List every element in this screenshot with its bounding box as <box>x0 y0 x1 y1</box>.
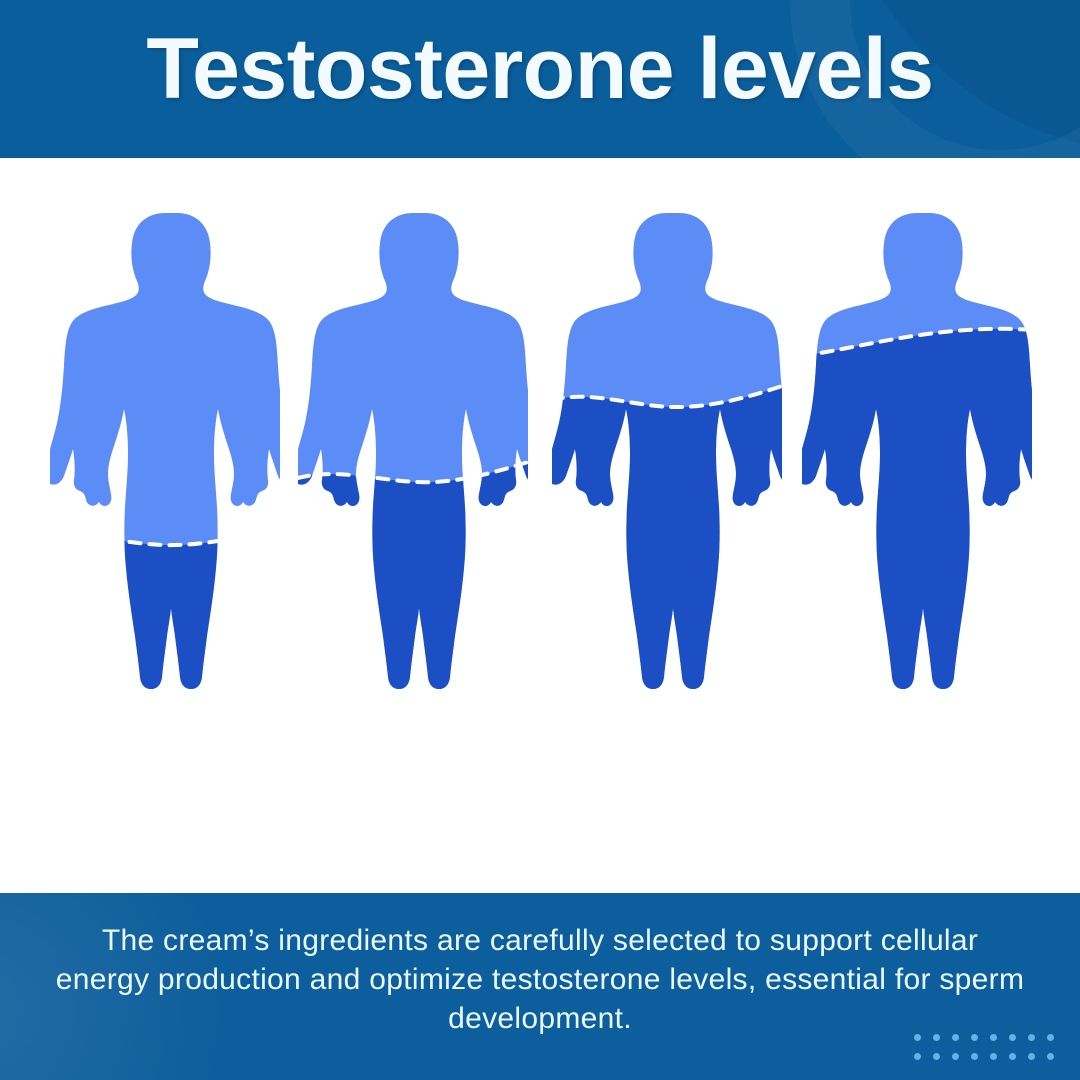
dot-grid-decoration <box>914 1034 1066 1072</box>
body-figure-week-1 <box>298 210 528 776</box>
caption-text: The cream’s ingredients are carefully se… <box>55 921 1025 1038</box>
body-figure-week-3 <box>802 210 1032 776</box>
infographic-poster: Testosterone levels <box>0 0 1080 1080</box>
page-title: Testosterone levels <box>0 26 1080 112</box>
caption-panel: The cream’s ingredients are carefully se… <box>0 893 1080 1080</box>
body-figure-baseline <box>50 210 280 776</box>
body-figure-week-2 <box>552 210 782 776</box>
figure-stage: WEEK 1 WEEK 2 WEEK 3 <box>0 158 1080 885</box>
